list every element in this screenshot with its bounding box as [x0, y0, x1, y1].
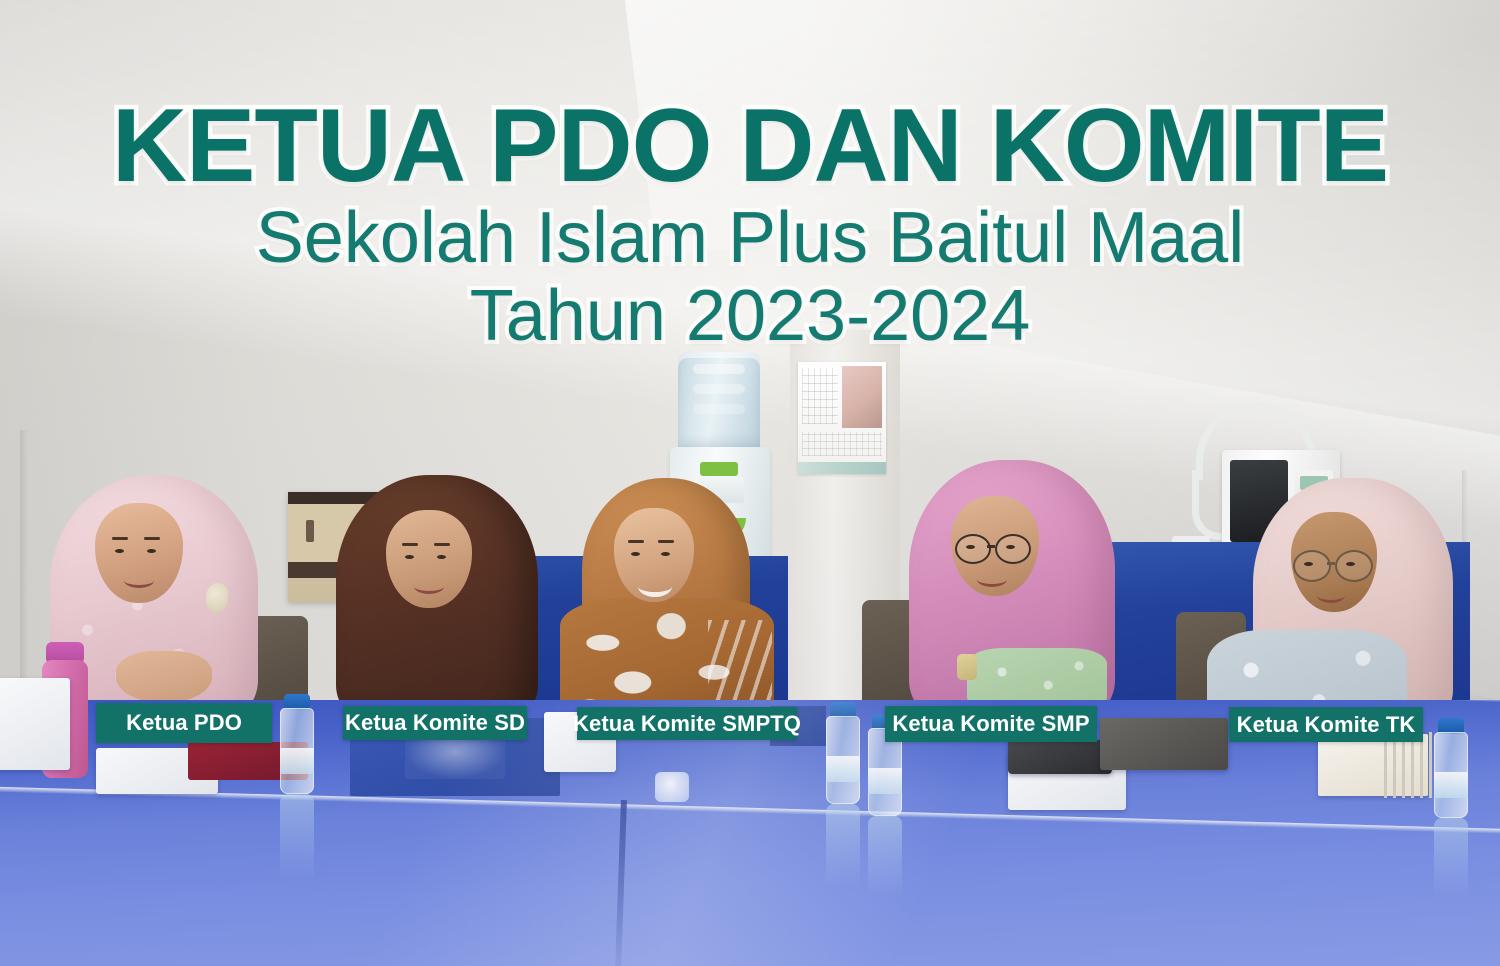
eyebrow-left	[112, 537, 128, 540]
eye-right	[1006, 545, 1015, 549]
cabinet-latch	[306, 520, 314, 542]
eyeglass-lens-left	[1293, 550, 1331, 582]
eye-right	[1346, 562, 1355, 566]
eye-left	[966, 545, 975, 549]
eye-left	[405, 555, 414, 559]
wall-edge-left	[20, 430, 28, 700]
mouth-open-smile	[638, 576, 672, 597]
name-badge-ketua-komite-smptq: Ketua Komite SMPTQ	[577, 707, 797, 740]
eyebrow-left	[628, 540, 644, 543]
eyebrow-right	[658, 540, 674, 543]
name-badge-ketua-komite-smp: Ketua Komite SMP	[885, 706, 1097, 742]
eyebrow-right	[144, 537, 160, 540]
eyeglass-bridge	[1327, 562, 1335, 565]
shawl-stripe-detail	[708, 620, 772, 706]
eye-left	[115, 549, 124, 553]
eyeglass-lens-right	[995, 534, 1031, 564]
calendar-month-grid	[802, 432, 882, 456]
name-badge-ketua-pdo: Ketua PDO	[96, 703, 272, 743]
person-ketua-komite-tk	[1235, 470, 1475, 730]
eye-right	[661, 552, 670, 556]
calendar-footer-band	[798, 462, 886, 474]
water-gallon-bottle	[678, 352, 760, 450]
mouth	[1317, 588, 1345, 603]
eye-right	[437, 555, 446, 559]
eyebrow-left	[402, 543, 418, 546]
meeting-photo	[0, 0, 1500, 966]
wristwatch	[957, 654, 977, 680]
mouth	[977, 572, 1007, 587]
eyebrow-right	[434, 543, 450, 546]
clasped-hands	[116, 651, 212, 703]
person-ketua-komite-smp	[895, 450, 1135, 720]
mouth	[124, 573, 154, 588]
eye-left	[1304, 562, 1313, 566]
eyeglass-lens-right	[1335, 550, 1373, 582]
eyeglass-lens-left	[955, 534, 991, 564]
person-ketua-komite-sd	[330, 465, 560, 715]
green-patterned-sleeve	[967, 648, 1107, 708]
calendar-date-grid	[802, 368, 838, 424]
mouth	[414, 579, 444, 594]
person-ketua-komite-smptq	[560, 470, 780, 720]
name-badge-ketua-komite-tk: Ketua Komite TK	[1229, 707, 1423, 742]
calendar-photo	[842, 366, 882, 428]
poster-banner: KETUA PDO DAN KOMITE Sekolah Islam Plus …	[0, 0, 1500, 966]
eyeglass-bridge	[987, 545, 995, 548]
eye-left	[631, 552, 640, 556]
name-badge-ketua-komite-sd: Ketua Komite SD	[343, 706, 527, 740]
wall-calendar	[798, 362, 886, 474]
eye-right	[147, 549, 156, 553]
